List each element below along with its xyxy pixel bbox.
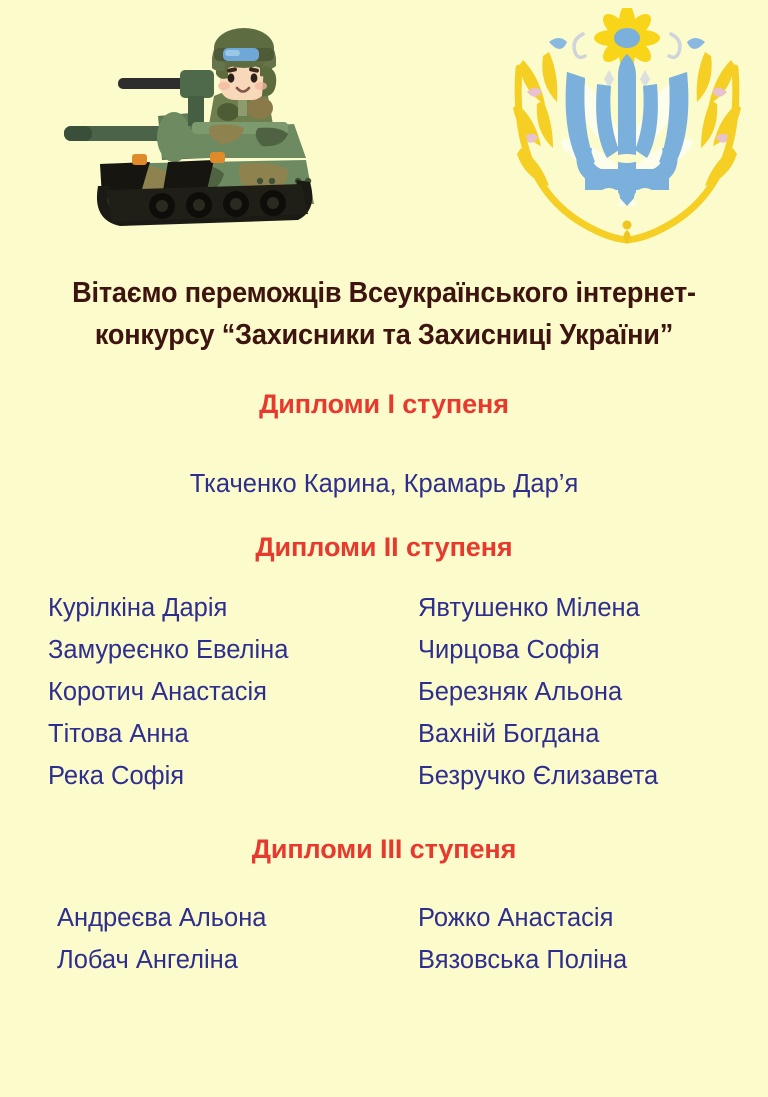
winner-name: Лобач Ангеліна bbox=[57, 939, 418, 981]
winners-second-degree-right-column: Явтушенко Мілена Чирцова Софія Березняк … bbox=[418, 587, 658, 797]
winners-third-degree-left-column: Андреєва Альона Лобач Ангеліна bbox=[57, 897, 418, 981]
winner-name: Явтушенко Мілена bbox=[418, 587, 658, 629]
winner-name: Коротич Анастасія bbox=[48, 671, 418, 713]
winner-name: Вахній Богдана bbox=[418, 713, 658, 755]
winner-name: Река Софія bbox=[48, 755, 418, 797]
winner-name: Андреєва Альона bbox=[57, 897, 418, 939]
poster-title: Вітаємо переможців Всеукраїнського інтер… bbox=[0, 272, 768, 356]
title-line-2: конкурсу “Захисники та Захисниці України… bbox=[19, 314, 749, 356]
winner-name: Тітова Анна bbox=[48, 713, 418, 755]
ukraine-emblem bbox=[505, 8, 749, 246]
winner-name: Березняк Альона bbox=[418, 671, 658, 713]
section-heading-second-degree: Дипломи II ступеня bbox=[0, 531, 768, 563]
winners-third-degree: Андреєва Альона Лобач Ангеліна Рожко Ана… bbox=[0, 897, 768, 981]
winner-name: Безручко Єлизавета bbox=[418, 755, 658, 797]
winner-name: Вязовська Поліна bbox=[418, 939, 627, 981]
winner-name: Чирцова Софія bbox=[418, 629, 658, 671]
artwork-band bbox=[0, 0, 768, 252]
winner-name: Рожко Анастасія bbox=[418, 897, 627, 939]
winner-name: Замуреєнко Евеліна bbox=[48, 629, 418, 671]
poster-canvas: Вітаємо переможців Всеукраїнського інтер… bbox=[0, 0, 768, 1097]
winners-third-degree-right-column: Рожко Анастасія Вязовська Поліна bbox=[418, 897, 627, 981]
section-heading-third-degree: Дипломи III ступеня bbox=[0, 833, 768, 865]
winners-first-degree: Ткаченко Карина, Крамарь Дар’я bbox=[0, 463, 768, 505]
winners-second-degree: Курілкіна Дарія Замуреєнко Евеліна Корот… bbox=[0, 587, 768, 797]
winners-second-degree-left-column: Курілкіна Дарія Замуреєнко Евеліна Корот… bbox=[48, 587, 418, 797]
tank-illustration bbox=[62, 18, 324, 240]
winner-name: Курілкіна Дарія bbox=[48, 587, 418, 629]
winner-name: Ткаченко Карина, Крамарь Дар’я bbox=[0, 463, 768, 505]
section-heading-first-degree: Дипломи I ступеня bbox=[0, 388, 768, 420]
title-line-1: Вітаємо переможців Всеукраїнського інтер… bbox=[19, 272, 749, 314]
